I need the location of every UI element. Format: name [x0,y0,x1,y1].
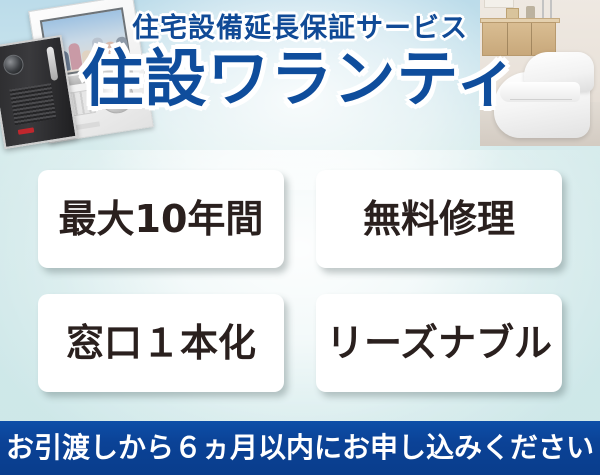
intercom-speaker-grille [9,83,56,125]
intercom-camera-lens-icon [2,53,25,76]
footer-notice-bar: お引渡しから６ヵ月以内にお申し込みください [0,421,600,475]
feature-card-free-repair[interactable]: 無料修理 [316,170,562,268]
feature-card-grid: 最大10年間 無料修理 窓口１本化 リーズナブル [38,170,562,392]
feature-label: 無料修理 [363,200,515,238]
promo-banner: 住宅設備延長保証サービス 住設ワランティ 最大10年間 無料修理 窓口１本化 リ… [0,0,600,475]
toilet-seam-line [510,99,572,100]
feature-label: 窓口１本化 [66,324,256,362]
feature-card-max-years[interactable]: 最大10年間 [38,170,284,268]
intercom-photo [0,0,162,146]
feature-card-single-contact[interactable]: 窓口１本化 [38,294,284,392]
toilet-wall-panel [484,0,514,8]
toilet-photo [480,0,600,146]
toilet-cabinet [482,22,556,56]
intercom-dial [97,77,136,116]
footer-notice-text: お引渡しから６ヵ月以内にお申し込みください [6,434,594,462]
feature-label: リーズナブル [326,324,552,362]
feature-card-reasonable[interactable]: リーズナブル [316,294,562,392]
feature-label: 最大10年間 [59,200,264,238]
intercom-side-strip [46,46,58,81]
intercom-call-button [18,127,35,134]
